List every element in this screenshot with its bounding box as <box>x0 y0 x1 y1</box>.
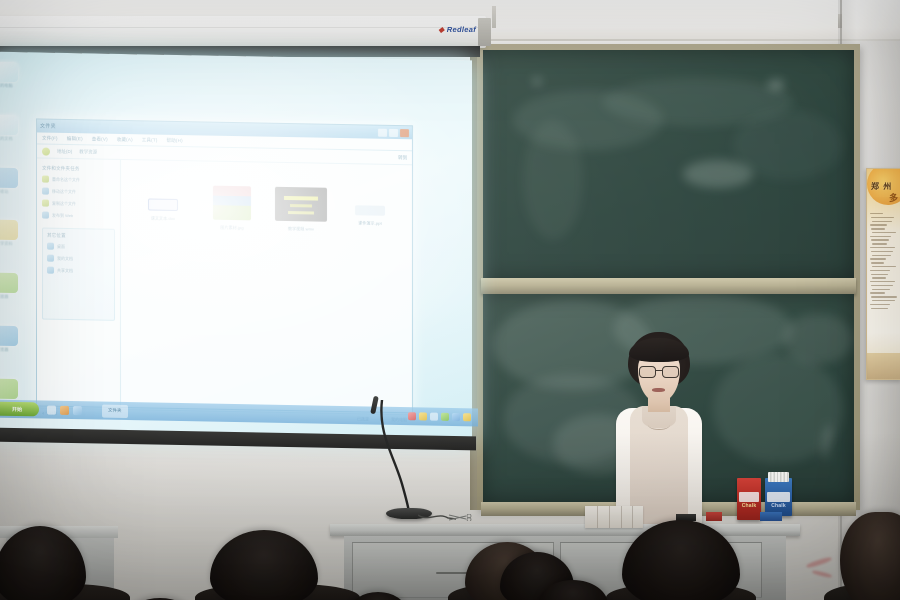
classroom-scene: 郑 州 多 Chalk <box>0 0 900 600</box>
poster-text-line <box>870 258 886 259</box>
poster-text-line <box>872 266 896 267</box>
poster-subtitle: 多 <box>889 191 898 204</box>
chalk-sticks <box>768 472 789 482</box>
projector-brand-label: ◆ Redleaf <box>438 25 476 34</box>
chalk-box-red-text: Chalk <box>737 503 761 509</box>
poster-text-line <box>870 213 883 214</box>
chalk-box-red[interactable]: Chalk <box>737 478 761 520</box>
update-icon[interactable] <box>452 413 460 421</box>
ime-icon[interactable] <box>430 413 438 421</box>
poster-text-line <box>872 221 892 222</box>
system-tray[interactable] <box>408 412 475 421</box>
show-desktop-icon[interactable] <box>47 405 56 414</box>
poster-text-line <box>872 255 891 256</box>
poster-text-line <box>871 296 897 297</box>
student-head <box>622 520 740 600</box>
poster-text-line <box>870 224 887 225</box>
stack-of-papers <box>585 506 643 528</box>
red-desk-box <box>706 512 722 521</box>
projector-hotspot-glow <box>0 52 472 441</box>
projection-screen-casing: ◆ Redleaf <box>0 16 486 48</box>
poster-text-line <box>871 274 888 275</box>
chalk-rail-upper <box>481 278 856 294</box>
poster-text-line <box>870 236 891 237</box>
poster-text-line <box>870 270 890 271</box>
glasses-left-lens <box>639 366 656 378</box>
poster-text-line <box>871 251 893 252</box>
projection-screen-surface[interactable]: 我的电脑我的文档回收站教学资料播放器浏览器办公快捷方式 文件夹 文件(F)编辑(… <box>0 52 472 441</box>
start-button[interactable]: 开始 <box>0 402 39 417</box>
poster-text-line <box>872 300 895 301</box>
poster-text-line <box>871 239 889 240</box>
student-head <box>350 592 406 600</box>
poster-text-line <box>871 228 885 229</box>
wall-poster: 郑 州 多 <box>866 168 900 380</box>
student-audience <box>0 528 900 600</box>
poster-text-line <box>871 262 884 263</box>
chalk-box-blue[interactable]: Chalk <box>765 478 792 516</box>
taskbar-task-button[interactable]: 文件夹 <box>102 404 128 417</box>
browser-icon[interactable] <box>60 405 69 414</box>
blue-desk-box <box>760 512 782 521</box>
quick-launch-bar[interactable] <box>47 405 82 415</box>
poster-text-line <box>871 285 893 286</box>
media-icon[interactable] <box>73 406 82 415</box>
ceiling-bracket <box>492 6 496 28</box>
poster-text-line <box>870 292 885 293</box>
glasses-right-lens <box>662 366 679 378</box>
scissors <box>448 514 474 521</box>
taskbar-task-label: 文件夹 <box>108 408 122 414</box>
network-icon[interactable] <box>419 412 427 420</box>
poster-body-text <box>870 213 898 311</box>
poster-text-line <box>872 232 896 233</box>
student-head <box>0 526 86 600</box>
hair-fringe <box>629 338 689 362</box>
chalk-box-label-band <box>739 492 759 502</box>
poster-text-line <box>872 289 890 290</box>
necklace <box>648 420 670 430</box>
casing-groove <box>0 27 486 28</box>
gooseneck-microphone <box>376 400 416 512</box>
poster-text-line <box>872 277 886 278</box>
poster-footer <box>867 353 900 379</box>
brand-name: Redleaf <box>447 25 476 34</box>
poster-text-line <box>870 304 890 305</box>
student-head <box>210 530 318 600</box>
clock-icon[interactable] <box>463 413 471 421</box>
chalkboard-upper-panel <box>483 50 854 278</box>
poster-text-line <box>872 243 887 244</box>
poster-text-line <box>870 281 895 282</box>
chalk-box-label-band <box>767 492 790 502</box>
mouth <box>652 388 665 392</box>
poster-text-line <box>871 217 894 218</box>
glasses-icon <box>638 366 680 378</box>
chalk-box-blue-text: Chalk <box>765 503 792 509</box>
brand-diamond-icon: ◆ <box>438 25 444 34</box>
casing-end-cap <box>478 18 491 46</box>
poster-text-line <box>871 308 888 309</box>
antivirus-icon[interactable] <box>441 413 449 421</box>
poster-text-line <box>870 247 895 248</box>
